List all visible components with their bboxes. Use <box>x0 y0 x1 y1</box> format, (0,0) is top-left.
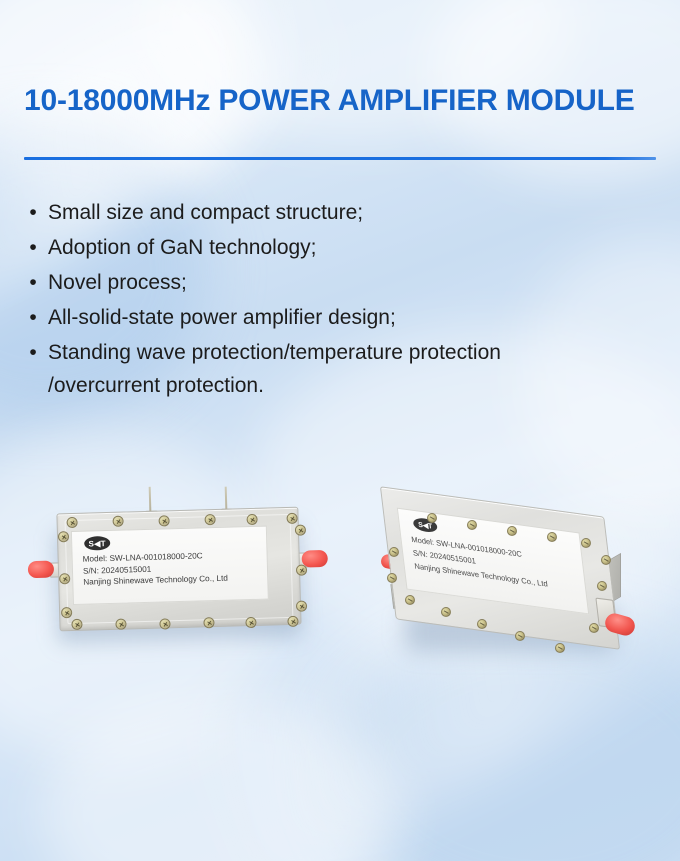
feature-text: Adoption of GaN technology; <box>48 231 317 264</box>
screw <box>296 600 307 611</box>
feature-list: • Small size and compact structure; • Ad… <box>18 196 668 404</box>
list-item: • Novel process; <box>18 266 668 299</box>
screw <box>467 520 477 530</box>
list-item: • Standing wave protection/temperature p… <box>18 336 668 402</box>
screw <box>441 607 451 617</box>
screw <box>427 513 437 523</box>
screw <box>515 631 525 641</box>
screw <box>387 573 397 583</box>
product-image-perspective-view: S◀T Model: SW-LNA-001018000-20C S/N: 202… <box>375 495 665 680</box>
screw <box>589 623 599 633</box>
brand-logo-icon: S◀T <box>84 536 110 551</box>
list-item: • All-solid-state power amplifier design… <box>18 301 668 334</box>
bullet-icon: • <box>18 231 48 264</box>
page-root: 10-18000MHz POWER AMPLIFIER MODULE • Sma… <box>0 0 680 861</box>
bullet-icon: • <box>18 301 48 334</box>
bullet-icon: • <box>18 196 48 229</box>
connector-cap <box>302 550 328 568</box>
screw <box>555 643 565 653</box>
product-label: S◀T Model: SW-LNA-001018000-20C S/N: 202… <box>71 526 269 605</box>
page-title: 10-18000MHz POWER AMPLIFIER MODULE <box>24 84 664 118</box>
connector-cap <box>28 561 54 579</box>
screw <box>581 538 591 548</box>
screw <box>507 526 517 536</box>
screw <box>296 564 307 575</box>
screw <box>601 555 611 565</box>
screw <box>477 619 487 629</box>
product-image-top-view: S◀T Model: SW-LNA-001018000-20C S/N: 202… <box>30 470 330 670</box>
rf-pin <box>149 487 152 513</box>
screw <box>295 524 306 535</box>
feature-text: Standing wave protection/temperature pro… <box>48 336 501 402</box>
screw <box>389 547 399 557</box>
screw <box>597 581 607 591</box>
feature-text: Novel process; <box>48 266 187 299</box>
feature-text: All-solid-state power amplifier design; <box>48 301 396 334</box>
list-item: • Adoption of GaN technology; <box>18 231 668 264</box>
bullet-icon: • <box>18 336 48 369</box>
title-divider <box>24 157 656 160</box>
feature-text: Small size and compact structure; <box>48 196 363 229</box>
bullet-icon: • <box>18 266 48 299</box>
screw <box>405 595 415 605</box>
list-item: • Small size and compact structure; <box>18 196 668 229</box>
screw <box>547 532 557 542</box>
